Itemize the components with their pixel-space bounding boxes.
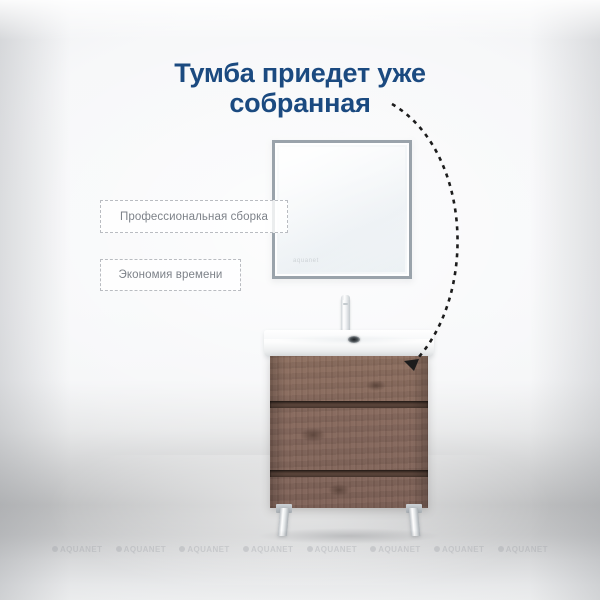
promo-scene: Тумба приедет уже собранная aquanet — [0, 0, 600, 600]
watermark-label: AQUANET — [251, 545, 293, 554]
watermark: AQUANET — [434, 545, 484, 554]
right-edge-shading — [530, 0, 600, 600]
watermark: AQUANET — [179, 545, 229, 554]
aquanet-logo-icon — [52, 546, 58, 552]
aquanet-logo-icon — [243, 546, 249, 552]
watermark: AQUANET — [243, 545, 293, 554]
washbasin — [264, 330, 434, 357]
feature-chip-time[interactable]: Экономия времени — [100, 259, 241, 291]
watermark: AQUANET — [307, 545, 357, 554]
aquanet-logo-icon — [498, 546, 504, 552]
watermark-label: AQUANET — [506, 545, 548, 554]
watermark: AQUANET — [52, 545, 102, 554]
watermark: AQUANET — [370, 545, 420, 554]
vanity-cabinet — [270, 356, 428, 508]
feature-chip-assembly-label: Профессиональная сборка — [120, 211, 268, 223]
wood-knot — [328, 484, 350, 496]
page-title: Тумба приедет уже собранная — [60, 58, 540, 118]
watermark: AQUANET — [116, 545, 166, 554]
mirror-brand-mark: aquanet — [293, 258, 319, 264]
drain-icon — [348, 336, 360, 343]
watermark-label: AQUANET — [60, 545, 102, 554]
cabinet-left-shading — [270, 356, 286, 508]
watermark-row: AQUANET AQUANET AQUANET AQUANET AQUANET … — [0, 538, 600, 560]
aquanet-logo-icon — [434, 546, 440, 552]
watermark-label: AQUANET — [378, 545, 420, 554]
aquanet-logo-icon — [370, 546, 376, 552]
aquanet-logo-icon — [307, 546, 313, 552]
feature-chip-time-label: Экономия времени — [119, 269, 223, 281]
aquanet-logo-icon — [179, 546, 185, 552]
faucet-lever-icon — [343, 303, 348, 305]
watermark: AQUANET — [498, 545, 548, 554]
feature-chip-assembly[interactable]: Профессиональная сборка — [100, 200, 288, 233]
watermark-label: AQUANET — [187, 545, 229, 554]
watermark-label: AQUANET — [442, 545, 484, 554]
mirror-glass-reflection — [279, 147, 405, 272]
cabinet-right-shading — [412, 356, 428, 508]
watermark-label: AQUANET — [315, 545, 357, 554]
aquanet-logo-icon — [116, 546, 122, 552]
top-edge-highlight — [0, 0, 600, 40]
faucet-cap-icon — [341, 295, 350, 300]
watermark-label: AQUANET — [124, 545, 166, 554]
wood-grain-texture — [270, 356, 428, 508]
wood-knot — [300, 428, 326, 442]
drawer-handle-groove-middle — [270, 470, 428, 477]
wall-mirror: aquanet — [272, 140, 412, 279]
wood-knot — [366, 380, 386, 391]
drawer-handle-groove-top — [270, 401, 428, 408]
